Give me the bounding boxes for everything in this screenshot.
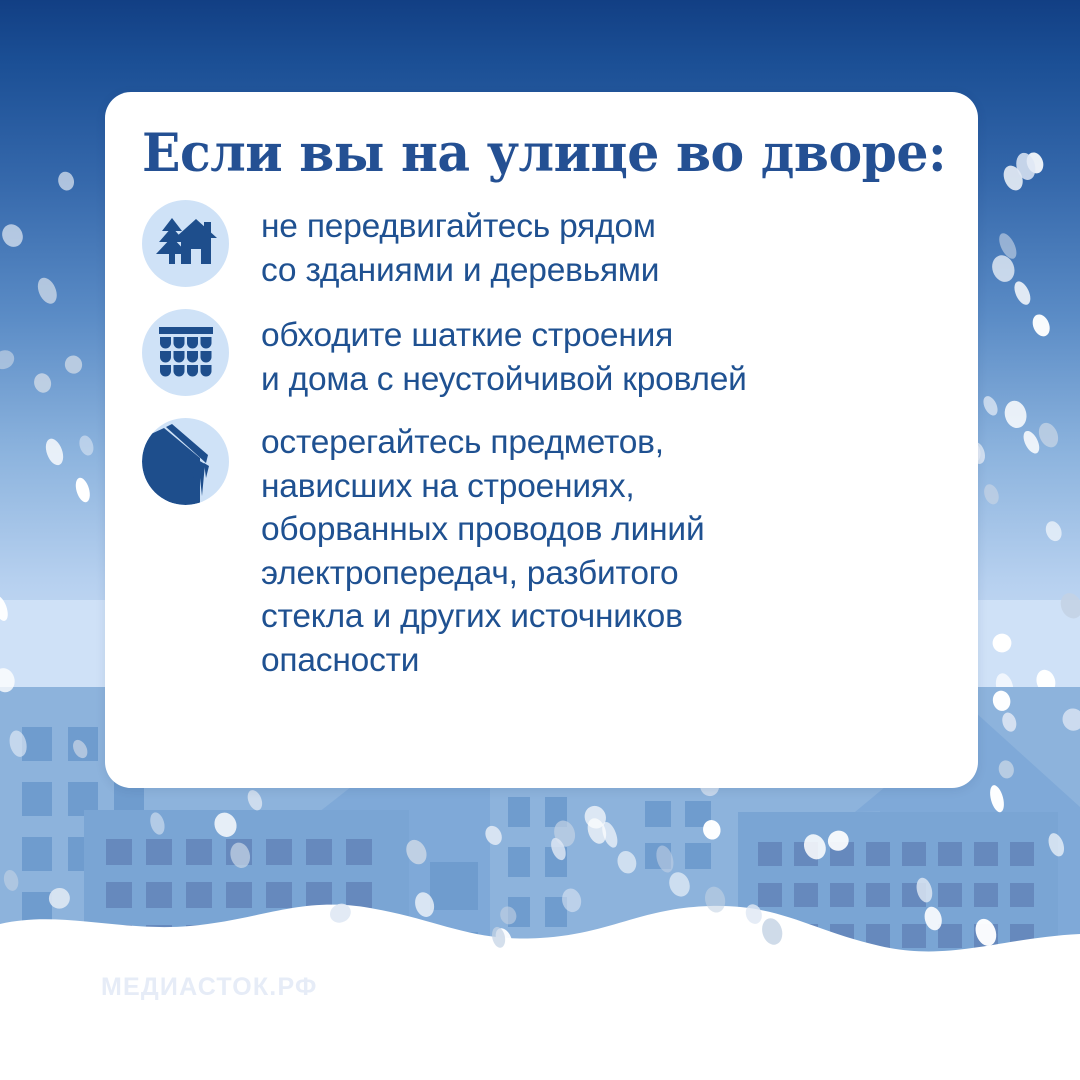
page-title: Если вы на улице во дворе: <box>142 123 918 184</box>
text-line: нависших на строениях, <box>261 465 704 509</box>
text-line: не передвигайтесь рядом <box>261 205 659 249</box>
icicles-glyph <box>142 418 229 505</box>
advice-list: не передвигайтесь рядом со зданиями и де… <box>142 200 952 682</box>
text-line: опасности <box>261 639 704 683</box>
roof-shingles-icon <box>142 309 229 396</box>
tree-and-house-glyph <box>155 216 217 272</box>
list-item-text: обходите шаткие строения и дома с неусто… <box>261 309 747 401</box>
list-item: обходите шаткие строения и дома с неусто… <box>142 309 952 401</box>
list-item: не передвигайтесь рядом со зданиями и де… <box>142 200 952 292</box>
watermark: МЕДИАСТОК.РФ <box>101 973 318 1002</box>
roof-shingles-glyph <box>158 327 214 379</box>
list-item-text: не передвигайтесь рядом со зданиями и де… <box>261 200 659 292</box>
text-line: электропередач, разбитого <box>261 552 704 596</box>
icicles-on-roof-icon <box>142 418 229 505</box>
text-line: со зданиями и деревьями <box>261 249 659 293</box>
poster-root: Если вы на улице во дворе: <box>0 0 1080 1080</box>
text-line: стекла и других источников <box>261 595 704 639</box>
list-item: остерегайтесь предметов, нависших на стр… <box>142 418 952 682</box>
text-line: обходите шаткие строения <box>261 314 747 358</box>
tree-and-house-icon <box>142 200 229 287</box>
text-line: оборванных проводов линий <box>261 508 704 552</box>
text-line: остерегайтесь предметов, <box>261 421 704 465</box>
text-line: и дома с неустойчивой кровлей <box>261 358 747 402</box>
content-card: Если вы на улице во дворе: <box>105 92 978 788</box>
list-item-text: остерегайтесь предметов, нависших на стр… <box>261 418 704 682</box>
